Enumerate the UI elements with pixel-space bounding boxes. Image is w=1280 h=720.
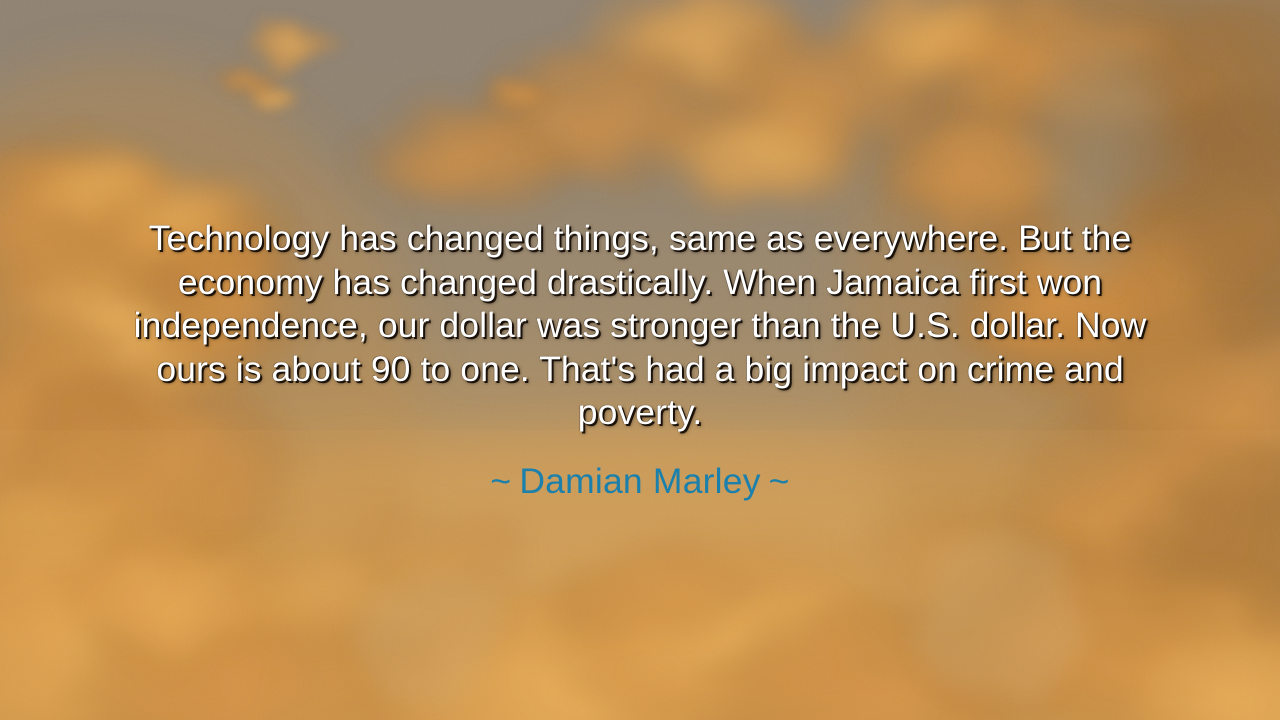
quote-card: Technology has changed things, same as e…: [0, 0, 1280, 720]
tilde-suffix-icon: ~: [769, 461, 790, 501]
quote-content: Technology has changed things, same as e…: [0, 0, 1280, 720]
tilde-prefix-icon: ~: [490, 461, 511, 501]
author-name: Damian Marley: [519, 461, 760, 501]
quote-attribution: ~Damian Marley~: [490, 460, 789, 503]
quote-text: Technology has changed things, same as e…: [96, 217, 1184, 435]
